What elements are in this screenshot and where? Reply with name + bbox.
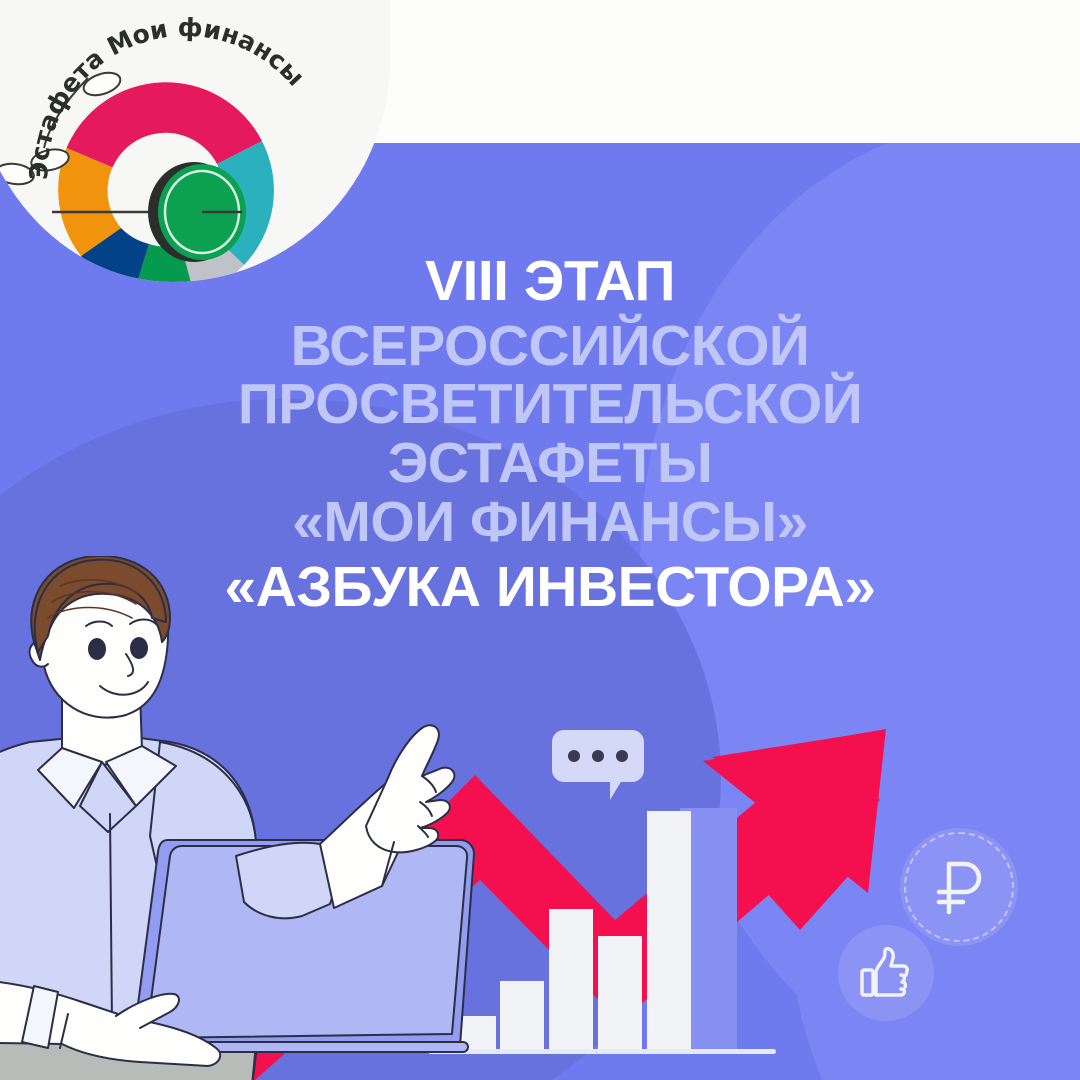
chart-bar-5 bbox=[647, 811, 691, 1049]
bubble-dot-3 bbox=[616, 750, 628, 762]
title-sub-line-2: ПРОСВЕТИТЕЛЬСКОЙ bbox=[150, 375, 950, 434]
title-stage: VIII ЭТАП bbox=[150, 252, 950, 311]
chat-bubble-icon bbox=[552, 730, 644, 782]
title-sub-line-4: «МОИ ФИНАНСЫ» bbox=[150, 493, 950, 552]
page-title: VIII ЭТАП ВСЕРОССИЙСКОЙ ПРОСВЕТИТЕЛЬСКОЙ… bbox=[150, 252, 950, 616]
poster-root: мои финансы bbox=[0, 0, 1080, 1080]
thumbs-up-icon bbox=[838, 925, 934, 1021]
estafeta-logo-badge[interactable]: Эстафета Мои финансы bbox=[0, 0, 390, 282]
bubble-tail bbox=[610, 780, 632, 800]
man-with-laptop-pointing bbox=[0, 556, 510, 1080]
bubble-dot-1 bbox=[568, 750, 580, 762]
estafeta-logo-graphic: Эстафета Мои финансы bbox=[0, 0, 390, 282]
chart-bar-4 bbox=[598, 936, 642, 1049]
ruble-coin-icon bbox=[900, 828, 1018, 946]
bubble-dot-2 bbox=[592, 750, 604, 762]
thumbs-up-symbol-icon bbox=[857, 944, 915, 1002]
title-sub-line-1: ВСЕРОССИЙСКОЙ bbox=[150, 317, 950, 376]
title-main-line: «АЗБУКА ИНВЕСТОРА» bbox=[150, 558, 950, 617]
ruble-dashed-ring bbox=[904, 832, 1014, 942]
chart-bar-3 bbox=[549, 909, 593, 1049]
title-sub-line-3: ЭСТАФЕТЫ bbox=[150, 434, 950, 493]
